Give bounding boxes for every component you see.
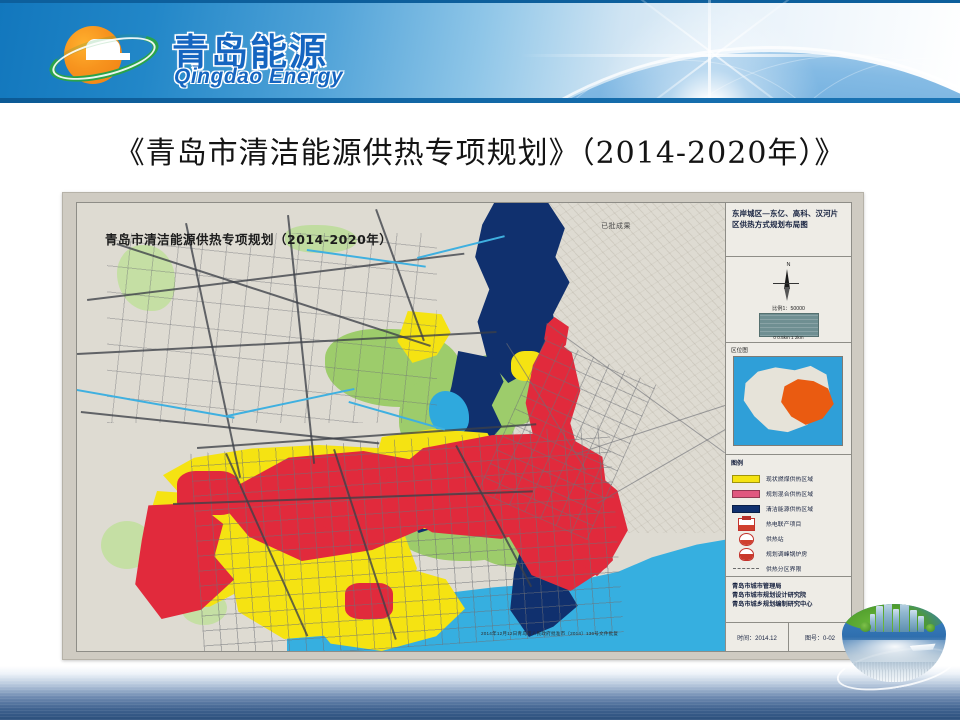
globe-building-icon — [893, 609, 899, 632]
globe-building-icon — [884, 604, 892, 632]
organization-name: 青岛市城乡规划编制研究中心 — [732, 601, 845, 610]
zone-boundary-line-icon — [732, 563, 760, 574]
legend-item: 清洁能源供热区域 — [732, 501, 847, 516]
compass-north-label: N — [726, 262, 851, 268]
globe-building-icon — [870, 614, 875, 632]
legend-item: 供热分区界限 — [732, 561, 847, 576]
map-approved-stamp: 已批成果 — [601, 221, 631, 231]
presentation-slide: 青岛能源 Qingdao Energy 《青岛市清洁能源供热专项规划》（2014… — [0, 0, 960, 720]
map-sheet-title: 青岛市清洁能源供热专项规划（2014-2020年） — [105, 229, 392, 248]
page-title: 《青岛市清洁能源供热专项规划》（2014-2020年）》 — [0, 128, 960, 172]
header-bottom-rule — [0, 98, 960, 103]
legend-item-label: 供热站 — [766, 534, 784, 543]
map-scale-caption: 0 0.5km 1 2km — [726, 335, 851, 340]
legend-item-label: 供热分区界限 — [766, 564, 801, 573]
pink-swatch-icon — [732, 490, 760, 498]
globe-building-icon — [910, 610, 917, 632]
map-legend: 图例 现状燃煤供热区域 规划混合供热区域 清洁能源供热区域 — [726, 455, 851, 577]
organization-name: 青岛市城市规划设计研究院 — [732, 592, 845, 601]
heating-station-icon — [732, 533, 760, 544]
inset-map-label: 区位图 — [731, 346, 748, 354]
map-scale-text: 比例1：50000 — [726, 305, 851, 312]
legend-item: 现状燃煤供热区域 — [732, 471, 847, 486]
map-metadata-row: 时间：2014.12 图号：0-02 — [726, 623, 851, 651]
legend-title: 图例 — [731, 458, 743, 467]
water-ripple-texture — [0, 666, 960, 720]
globe-building-icon — [876, 606, 883, 632]
legend-item: 规划混合供热区域 — [732, 486, 847, 501]
navy-swatch-icon — [732, 505, 760, 513]
compass-crossbar-icon — [773, 283, 799, 284]
legend-item: 供热站 — [732, 531, 847, 546]
legend-item-list: 现状燃煤供热区域 规划混合供热区域 清洁能源供热区域 热电联产项 — [732, 471, 847, 576]
inset-map-image — [733, 356, 843, 446]
legend-item-label: 规划混合供热区域 — [766, 489, 813, 498]
ocean-water-strip — [0, 666, 960, 720]
map-photograph: 青岛市清洁能源供热专项规划（2014-2020年） 已批成果 2014年12月1… — [62, 192, 864, 660]
globe-tree-icon — [926, 624, 935, 632]
compass-needle-tail-icon — [784, 287, 790, 301]
legend-item-label: 现状燃煤供热区域 — [766, 474, 813, 483]
map-inset-locator: 区位图 — [726, 343, 851, 455]
map-date-label: 时间：2014.12 — [726, 633, 788, 642]
map-compass-and-scale: N 比例1：50000 0 0.5km 1 2km — [726, 257, 851, 343]
legend-item: 规划调峰锅炉房 — [732, 546, 847, 561]
legend-item: 热电联产项目 — [732, 516, 847, 531]
header-banner: 青岛能源 Qingdao Energy — [0, 0, 960, 103]
peak-boiler-icon — [732, 548, 760, 559]
qingdao-energy-orbit-logo — [48, 22, 163, 88]
chp-plant-icon — [732, 518, 760, 529]
map-sheet: 青岛市清洁能源供热专项规划（2014-2020年） 已批成果 2014年12月1… — [76, 202, 852, 652]
globe-building-icon — [900, 604, 909, 632]
brand-name-en: Qingdao Energy — [174, 65, 343, 89]
globe-building-icon — [918, 616, 924, 632]
globe-tree-icon — [860, 622, 871, 632]
legend-item-label: 热电联产项目 — [766, 519, 801, 528]
map-footnote: 2014年12月12日青岛市人民政府批准市〔2014〕136号文件批复 — [481, 631, 618, 637]
map-scale-swatch-icon — [759, 313, 819, 337]
legend-item-label: 清洁能源供热区域 — [766, 504, 813, 513]
organization-name: 青岛市城市管理局 — [732, 583, 845, 592]
compass-needle-icon — [784, 269, 790, 289]
legend-item-label: 规划调峰锅炉房 — [766, 549, 807, 558]
eco-city-globe-icon — [838, 578, 950, 686]
map-panel-heading: 东岸城区—东亿、高科、汉河片区供热方式规划布局图 — [726, 203, 851, 257]
brand-logo: 青岛能源 Qingdao Energy — [48, 20, 378, 90]
map-publisher-organizations: 青岛市城市管理局 青岛市城市规划设计研究院 青岛市城乡规划编制研究中心 — [726, 577, 851, 623]
yellow-swatch-icon — [732, 475, 760, 483]
map-legend-panel: 东岸城区—东亿、高科、汉河片区供热方式规划布局图 N 比例1：50000 0 0… — [725, 203, 851, 651]
